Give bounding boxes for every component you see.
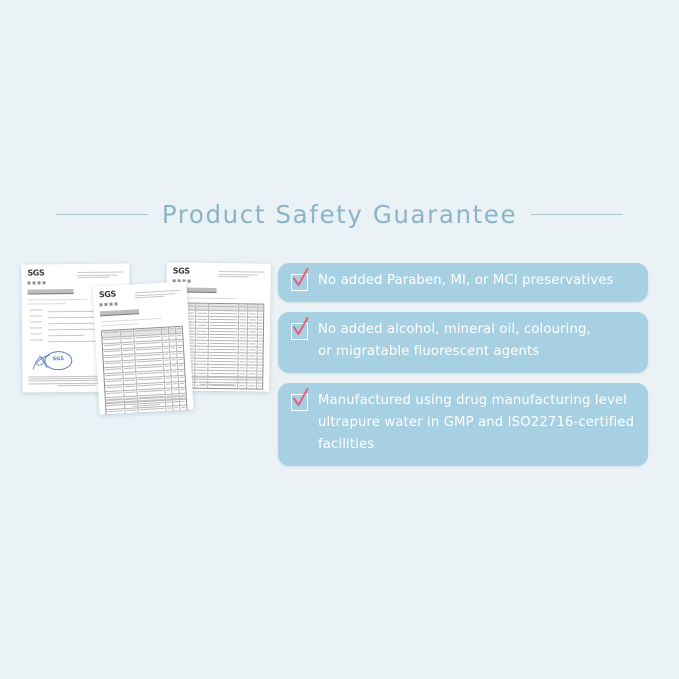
document-field-block — [100, 317, 182, 326]
guarantee-item-3: Manufactured using drug manufacturing le… — [278, 383, 648, 466]
document-address-block — [219, 271, 265, 279]
page-title: Product Safety Guarantee — [162, 200, 517, 229]
document-title-band — [100, 309, 140, 316]
document-subtitle — [28, 280, 124, 284]
guarantee-item-1-text: No added Paraben, MI, or MCI preservativ… — [318, 270, 614, 292]
guarantee-item-3-line-1: Manufactured using drug manufacturing le… — [318, 390, 634, 412]
page-title-row: Product Safety Guarantee — [0, 196, 679, 232]
guarantee-item-3-line-2: ultrapure water in GMP and ISO22716-cert… — [318, 412, 634, 434]
guarantee-item-1-line-1: No added Paraben, MI, or MCI preservativ… — [318, 270, 614, 292]
document-subtitle — [99, 299, 181, 307]
check-mark-icon — [291, 388, 310, 409]
guarantee-list: No added Paraben, MI, or MCI preservativ… — [278, 263, 648, 476]
document-title-band — [28, 289, 74, 294]
guarantee-item-3-text: Manufactured using drug manufacturing le… — [318, 390, 634, 456]
guarantee-item-1: No added Paraben, MI, or MCI preservativ… — [278, 263, 648, 302]
check-mark-icon — [291, 268, 310, 289]
guarantee-item-2-text: No added alcohol, mineral oil, colouring… — [318, 319, 591, 363]
document-address-block — [77, 272, 123, 280]
certificate-document-2: SGS — [93, 281, 194, 414]
title-rule-left — [56, 214, 148, 215]
sgs-certificate-images: SGS — [14, 258, 280, 438]
guarantee-item-2-line-2: or migratable fluorescent agents — [318, 341, 591, 363]
title-rule-right — [531, 214, 623, 215]
check-mark-icon — [291, 317, 310, 338]
guarantee-item-2-line-1: No added alcohol, mineral oil, colouring… — [318, 319, 591, 341]
checkbox-checked-icon — [291, 394, 308, 411]
guarantee-item-3-line-3: facilities — [318, 434, 634, 456]
sgs-seal-stamp — [44, 351, 72, 370]
guarantee-item-2: No added alcohol, mineral oil, colouring… — [278, 312, 648, 373]
checkbox-checked-icon — [291, 323, 308, 340]
checkbox-checked-icon — [291, 274, 308, 291]
